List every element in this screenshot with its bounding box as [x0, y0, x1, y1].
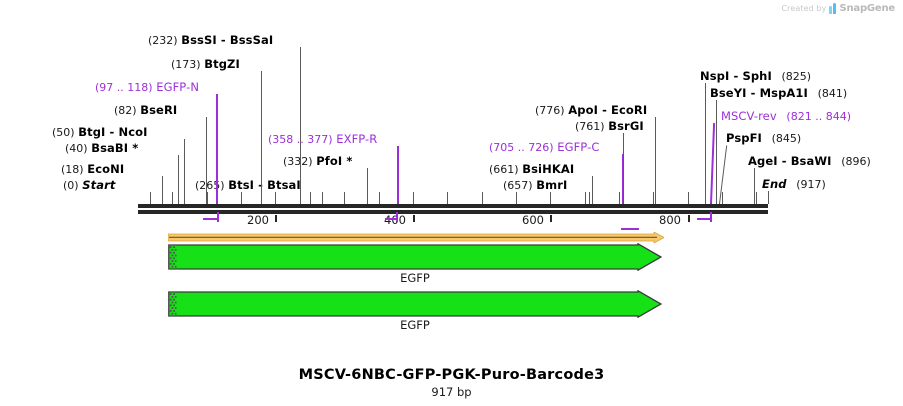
site-position-bmri: (657): [503, 179, 533, 192]
primer-label-mscv-rev[interactable]: MSCV-rev (821 .. 844): [721, 110, 851, 123]
site-position-start: (0): [63, 179, 79, 192]
leader-line-bseri: [206, 117, 207, 204]
ruler-minor-tick: [585, 192, 586, 204]
site-label-end[interactable]: End (917): [762, 178, 826, 191]
site-label-bsssi[interactable]: (232) BssSI - BssSaI: [148, 34, 273, 47]
primer-position-egfp-c: (705 .. 726): [489, 141, 554, 154]
site-position-pspfi: (845): [772, 132, 802, 145]
ruler-minor-tick: [688, 192, 689, 204]
ruler-tick-label-800: 800: [659, 213, 681, 227]
site-label-agei-bsawi[interactable]: AgeI - BsaWI (896): [748, 155, 871, 168]
snapgene-bookmark-icon: [829, 3, 836, 14]
credit-prefix-label: Created by: [781, 4, 826, 13]
feature-label-egfp-2: EGFP: [168, 318, 662, 332]
leader-line-nspi-sphi: [705, 83, 706, 204]
site-name-bsabi: BsaBI *: [91, 141, 138, 155]
leader-line-apoi-ecori: [655, 117, 656, 204]
primer-name-egfp-c: EGFP-C: [557, 140, 599, 154]
ruler-minor-tick: [310, 192, 311, 204]
site-position-btgi-ncoi: (50): [52, 126, 75, 139]
site-label-btgzi[interactable]: (173) BtgZI: [171, 58, 240, 71]
site-label-pfoi[interactable]: (332) PfoI *: [283, 155, 352, 168]
site-name-apoi-ecori: ApoI - EcoRI: [568, 103, 647, 117]
site-name-agei-bsawi: AgeI - BsaWI: [748, 154, 832, 168]
ruler-tick-label-600: 600: [522, 213, 544, 227]
ruler-tick-200: [275, 215, 277, 222]
leader-line-btgzi: [261, 71, 262, 204]
site-position-bsrgi: (761): [575, 120, 605, 133]
leader-line-mscv-rev: [710, 123, 715, 204]
site-position-bseyi-mspa1i: (841): [818, 87, 848, 100]
ruler-minor-tick: [447, 192, 448, 204]
site-position-end: (917): [796, 178, 826, 191]
site-name-bseyi-mspa1i: BseYI - MspA1I: [710, 86, 808, 100]
ruler-tick-800: [688, 215, 690, 222]
leader-line-bsihkai: [592, 176, 593, 204]
site-name-bsssi: BssSI - BssSaI: [181, 33, 273, 47]
feature-label-egfp-1: EGFP: [168, 271, 662, 285]
orf-track-arrow[interactable]: [168, 228, 664, 239]
primer-bracket-exfp-r[interactable]: [385, 212, 398, 222]
primer-name-egfp-n: EGFP-N: [156, 80, 199, 94]
site-label-bsrgi[interactable]: (761) BsrGI: [575, 120, 644, 133]
site-position-bsabi: (40): [65, 142, 88, 155]
leader-line-bsssi: [300, 47, 301, 204]
snapgene-brand-label: SnapGene: [839, 3, 895, 14]
leader-line-btsi: [322, 192, 323, 204]
leader-line-egfp-n: [216, 94, 218, 204]
snapgene-credit: Created by SnapGene: [781, 3, 895, 14]
leader-line-start: [150, 192, 151, 204]
leader-line-exfp-r: [397, 146, 399, 204]
site-name-btgi-ncoi: BtgI - NcoI: [78, 125, 147, 139]
construct-name: MSCV-6NBC-GFP-PGK-Puro-Barcode3: [0, 367, 903, 383]
site-label-nspi-sphi[interactable]: NspI - SphI (825): [700, 70, 811, 83]
site-label-btgi-ncoi[interactable]: (50) BtgI - NcoI: [52, 126, 148, 139]
site-position-pfoi: (332): [283, 155, 313, 168]
site-name-bmri: BmrI: [536, 178, 567, 192]
site-position-btsi: (265): [195, 179, 225, 192]
site-label-start[interactable]: (0) Start: [63, 179, 115, 192]
leader-line-bseyi-mspa1i: [716, 100, 717, 204]
ruler-minor-tick: [379, 192, 380, 204]
site-name-nspi-sphi: NspI - SphI: [700, 69, 772, 83]
site-position-econi: (18): [61, 163, 84, 176]
site-name-pspfi: PspFI: [726, 131, 762, 145]
primer-bracket-egfp-n[interactable]: [203, 212, 219, 222]
ruler-tick-600: [550, 215, 552, 222]
leader-line-bmri: [589, 192, 590, 204]
leader-line-bsabi: [178, 155, 179, 204]
site-position-agei-bsawi: (896): [841, 155, 871, 168]
site-label-bseri[interactable]: (82) BseRI: [114, 104, 177, 117]
site-label-pspfi[interactable]: PspFI (845): [726, 132, 801, 145]
primer-name-exfp-r: EXFP-R: [336, 132, 377, 146]
site-label-econi[interactable]: (18) EcoNI: [61, 163, 124, 176]
leader-line-agei-bsawi: [754, 168, 755, 204]
site-label-bmri[interactable]: (657) BmrI: [503, 179, 567, 192]
ruler-minor-tick: [172, 192, 173, 204]
site-label-bseyi-mspa1i[interactable]: BseYI - MspA1I (841): [710, 87, 847, 100]
site-name-pfoi: PfoI *: [316, 154, 352, 168]
leader-line-end: [768, 191, 769, 204]
ruler-minor-tick: [275, 192, 276, 204]
primer-label-egfp-c[interactable]: (705 .. 726) EGFP-C: [489, 141, 599, 154]
primer-position-mscv-rev: (821 .. 844): [786, 110, 851, 123]
primer-position-egfp-n: (97 .. 118): [95, 81, 153, 94]
primer-label-egfp-n[interactable]: (97 .. 118) EGFP-N: [95, 81, 199, 94]
site-name-bsihkai: BsiHKAI: [522, 162, 574, 176]
ruler-minor-tick: [207, 192, 208, 204]
site-label-bsabi[interactable]: (40) BsaBI *: [65, 142, 138, 155]
ruler-minor-tick: [550, 192, 551, 204]
site-position-bseri: (82): [114, 104, 137, 117]
leader-line-pfoi: [367, 168, 368, 204]
ruler-minor-tick: [619, 192, 620, 204]
ruler-minor-tick: [344, 192, 345, 204]
construct-length: 917 bp: [0, 385, 903, 399]
site-name-start: Start: [82, 178, 115, 192]
feature-arrow-egfp-2[interactable]: [168, 290, 662, 318]
site-position-bsssi: (232): [148, 34, 178, 47]
ruler-minor-tick: [516, 192, 517, 204]
ruler-minor-tick: [722, 192, 723, 204]
ruler-tick-400: [413, 215, 415, 222]
construct-title-block: MSCV-6NBC-GFP-PGK-Puro-Barcode3 917 bp: [0, 367, 903, 399]
site-name-bseri: BseRI: [140, 103, 177, 117]
site-position-apoi-ecori: (776): [535, 104, 565, 117]
ruler-minor-tick: [756, 192, 757, 204]
site-label-apoi-ecori[interactable]: (776) ApoI - EcoRI: [535, 104, 647, 117]
ruler-minor-tick: [653, 192, 654, 204]
leader-line-econi: [162, 176, 163, 204]
leader-line-bsrgi: [623, 133, 624, 204]
primer-name-mscv-rev: MSCV-rev: [721, 109, 777, 123]
ruler-minor-tick: [413, 192, 414, 204]
primer-label-exfp-r[interactable]: (358 .. 377) EXFP-R: [268, 133, 377, 146]
site-name-econi: EcoNI: [87, 162, 124, 176]
primer-bracket-mscv-rev[interactable]: [697, 212, 712, 222]
site-position-btgzi: (173): [171, 58, 201, 71]
feature-arrow-egfp-1[interactable]: [168, 243, 662, 271]
site-position-nspi-sphi: (825): [782, 70, 812, 83]
site-position-bsihkai: (661): [489, 163, 519, 176]
ruler-tick-label-200: 200: [247, 213, 269, 227]
site-name-btsi: BtsI - BtsaI: [228, 178, 301, 192]
site-name-end: End: [762, 177, 787, 191]
ruler-minor-tick: [482, 192, 483, 204]
ruler-bar-top: [138, 204, 768, 208]
ruler-minor-tick: [241, 192, 242, 204]
sequence-map-canvas: Created by SnapGene (232) BssSI - BssSaI…: [0, 0, 903, 406]
site-label-btsi[interactable]: (265) BtsI - BtsaI: [195, 179, 301, 192]
site-name-bsrgi: BsrGI: [608, 119, 644, 133]
site-name-btgzi: BtgZI: [204, 57, 240, 71]
site-label-bsihkai[interactable]: (661) BsiHKAI: [489, 163, 574, 176]
leader-line-btgi-ncoi: [184, 139, 185, 204]
